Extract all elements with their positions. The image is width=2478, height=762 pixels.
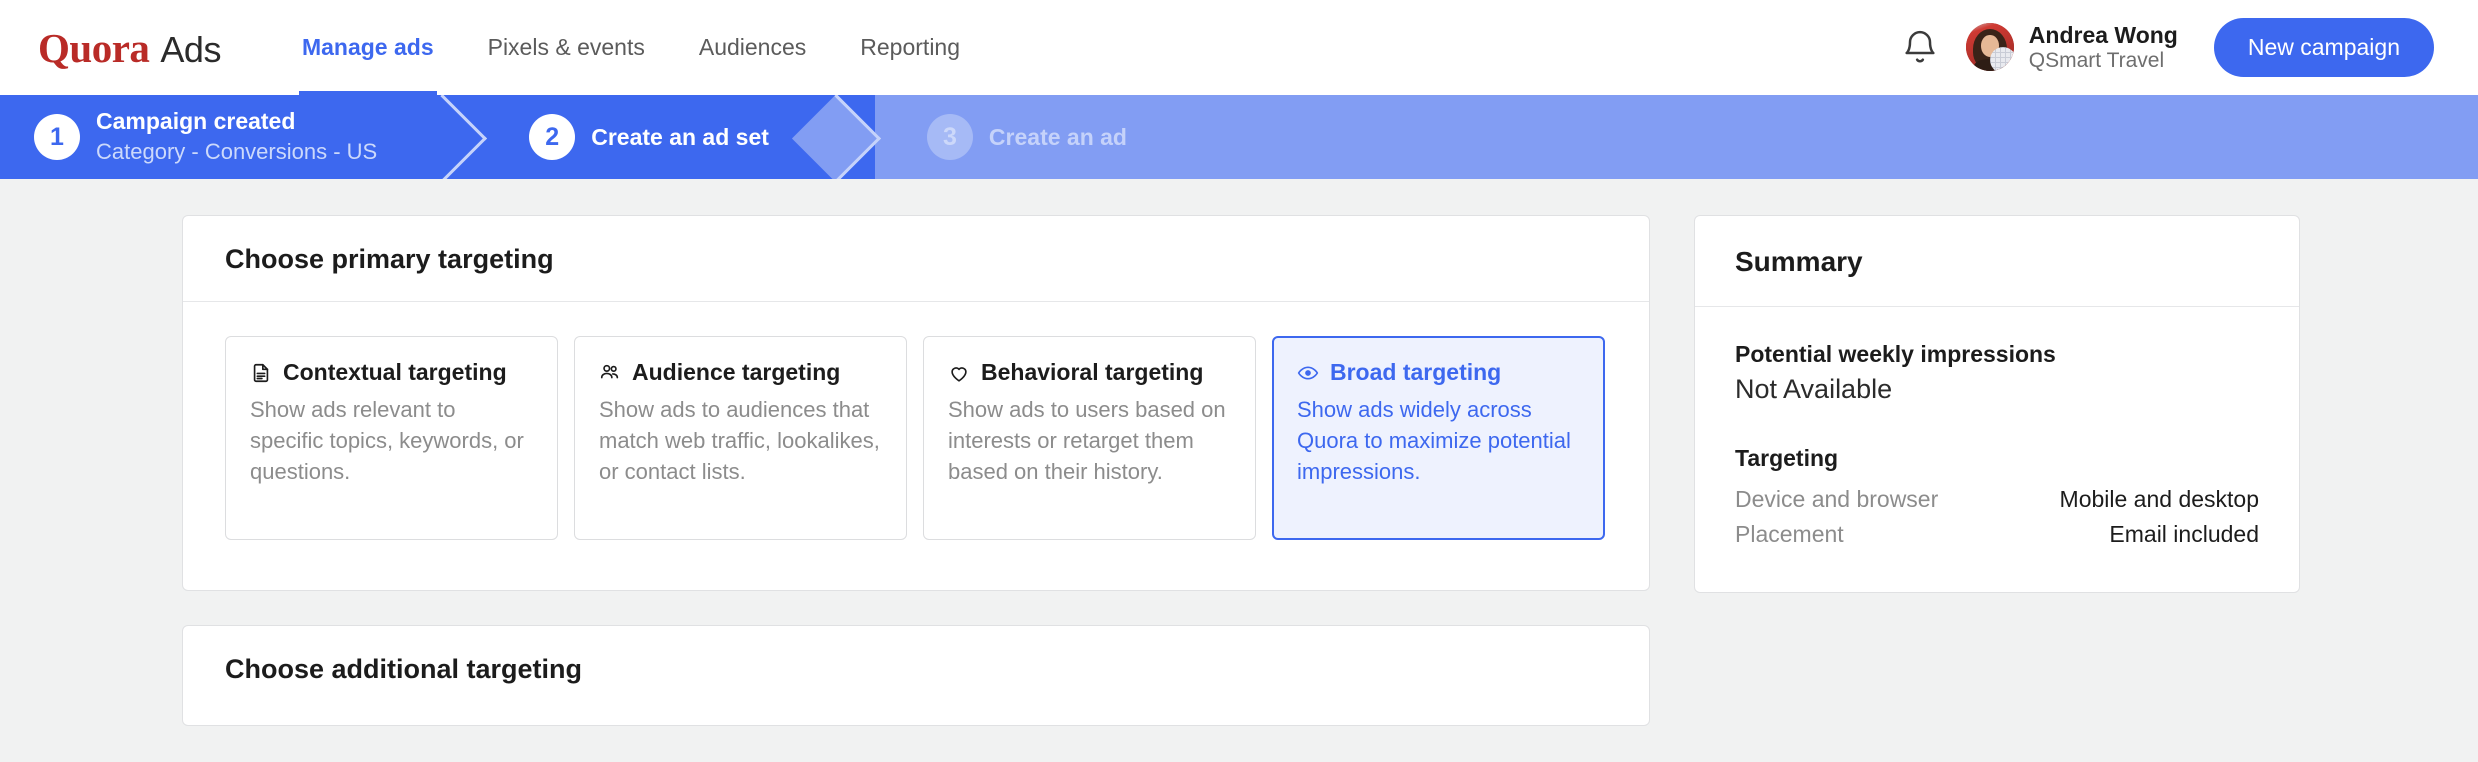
targeting-option-broad[interactable]: Broad targeting Show ads widely across Q… [1272, 336, 1605, 540]
primary-targeting-title: Choose primary targeting [225, 244, 1607, 275]
step-title-1: Campaign created [96, 107, 377, 136]
summary-value-placement: Email included [2109, 521, 2259, 548]
impressions-value: Not Available [1735, 374, 2259, 405]
user-menu[interactable]: Andrea Wong QSmart Travel [1966, 22, 2178, 74]
header-actions: Andrea Wong QSmart Travel New campaign [1900, 18, 2434, 77]
top-header-bar: Quora Ads Manage ads Pixels & events Aud… [0, 0, 2478, 95]
targeting-option-desc-contextual: Show ads relevant to specific topics, ke… [250, 394, 533, 488]
targeting-option-behavioral[interactable]: Behavioral targeting Show ads to users b… [923, 336, 1256, 540]
primary-targeting-card: Choose primary targeting [182, 215, 1650, 591]
user-name: Andrea Wong [2029, 22, 2178, 49]
targeting-option-audience[interactable]: Audience targeting Show ads to audiences… [574, 336, 907, 540]
nav-item-reporting[interactable]: Reporting [833, 0, 987, 95]
document-icon [250, 362, 272, 384]
step-title-3: Create an ad [989, 123, 1127, 152]
summary-body: Potential weekly impressions Not Availab… [1695, 307, 2299, 592]
avatar [1966, 23, 2014, 71]
left-column: Choose primary targeting [182, 215, 1650, 726]
main-navigation: Manage ads Pixels & events Audiences Rep… [275, 0, 987, 95]
brand-logo[interactable]: Quora Ads [38, 24, 221, 72]
user-organization: QSmart Travel [2029, 49, 2178, 74]
heart-icon [948, 362, 970, 384]
targeting-section-label: Targeting [1735, 445, 2259, 472]
targeting-option-desc-broad: Show ads widely across Quora to maximize… [1297, 394, 1580, 488]
additional-targeting-card: Choose additional targeting [182, 625, 1650, 726]
brand-quora-text: Quora [38, 24, 149, 72]
step-number-1: 1 [34, 114, 80, 160]
step-subtitle-1: Category - Conversions - US [96, 138, 377, 167]
targeting-option-desc-audience: Show ads to audiences that match web tra… [599, 394, 882, 488]
stepper-chevron-2 [831, 95, 875, 179]
step-number-3: 3 [927, 114, 973, 160]
stepper-chevron-1 [437, 95, 481, 179]
targeting-option-title-audience: Audience targeting [632, 359, 840, 386]
impressions-label: Potential weekly impressions [1735, 341, 2259, 368]
nav-label-pixels-events: Pixels & events [488, 34, 645, 61]
primary-targeting-header: Choose primary targeting [183, 216, 1649, 302]
targeting-option-list: Contextual targeting Show ads relevant t… [225, 336, 1607, 540]
stepper-step-create-ad-set[interactable]: 2 Create an ad set [481, 95, 831, 179]
summary-title: Summary [1735, 246, 2259, 278]
summary-card: Summary Potential weekly impressions Not… [1694, 215, 2300, 593]
summary-key-placement: Placement [1735, 521, 1844, 548]
nav-item-manage-ads[interactable]: Manage ads [275, 0, 461, 95]
nav-label-manage-ads: Manage ads [302, 34, 434, 61]
nav-label-reporting: Reporting [860, 34, 960, 61]
additional-targeting-title: Choose additional targeting [225, 654, 1607, 685]
main-content: Choose primary targeting [0, 179, 2478, 726]
summary-row-device-browser: Device and browser Mobile and desktop [1735, 482, 2259, 517]
people-icon [599, 362, 621, 384]
step-title-2: Create an ad set [591, 123, 769, 152]
bell-icon[interactable] [1900, 28, 1940, 68]
additional-targeting-header: Choose additional targeting [183, 626, 1649, 725]
nav-item-audiences[interactable]: Audiences [672, 0, 833, 95]
eye-icon [1297, 362, 1319, 384]
campaign-progress-stepper: 1 Campaign created Category - Conversion… [0, 95, 2478, 179]
right-column: Summary Potential weekly impressions Not… [1694, 215, 2300, 593]
nav-item-pixels-events[interactable]: Pixels & events [461, 0, 672, 95]
targeting-option-contextual[interactable]: Contextual targeting Show ads relevant t… [225, 336, 558, 540]
targeting-option-desc-behavioral: Show ads to users based on interests or … [948, 394, 1231, 488]
targeting-option-title-broad: Broad targeting [1330, 359, 1501, 386]
stepper-step-campaign-created[interactable]: 1 Campaign created Category - Conversion… [0, 95, 437, 179]
stepper-step-create-ad: 3 Create an ad [875, 95, 2478, 179]
summary-header: Summary [1695, 216, 2299, 307]
targeting-option-title-behavioral: Behavioral targeting [981, 359, 1203, 386]
summary-key-device-browser: Device and browser [1735, 486, 1938, 513]
summary-row-placement: Placement Email included [1735, 517, 2259, 552]
primary-targeting-body: Contextual targeting Show ads relevant t… [183, 302, 1649, 590]
brand-ads-text: Ads [160, 29, 221, 71]
new-campaign-button[interactable]: New campaign [2214, 18, 2434, 77]
nav-label-audiences: Audiences [699, 34, 806, 61]
targeting-option-title-contextual: Contextual targeting [283, 359, 507, 386]
summary-value-device-browser: Mobile and desktop [2060, 486, 2259, 513]
step-number-2: 2 [529, 114, 575, 160]
